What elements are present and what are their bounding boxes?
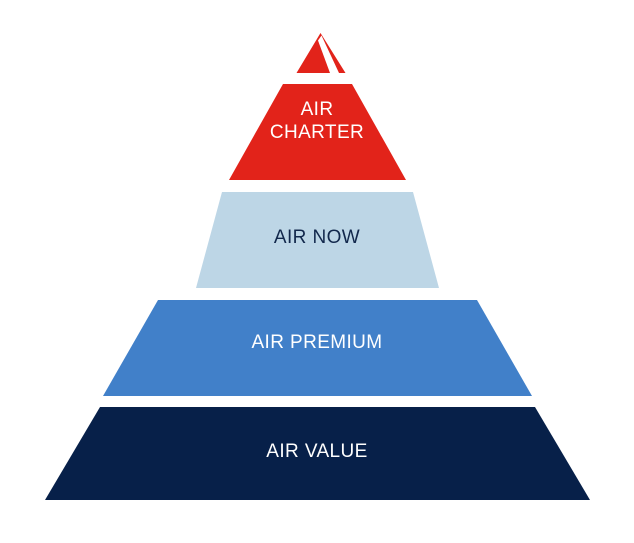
pyramid-tier-air-value[interactable] [45, 407, 590, 500]
pyramid-tier-air-now[interactable] [196, 192, 439, 288]
pyramid-diagram-canvas: AIR CHARTER AIR NOW AIR PREMIUM AIR VALU… [0, 0, 634, 543]
pyramid-shapes [0, 0, 634, 543]
apex-tip-group[interactable] [297, 33, 346, 73]
pyramid-tier-air-premium[interactable] [103, 300, 532, 396]
pyramid-tier-air-charter[interactable] [229, 84, 406, 180]
